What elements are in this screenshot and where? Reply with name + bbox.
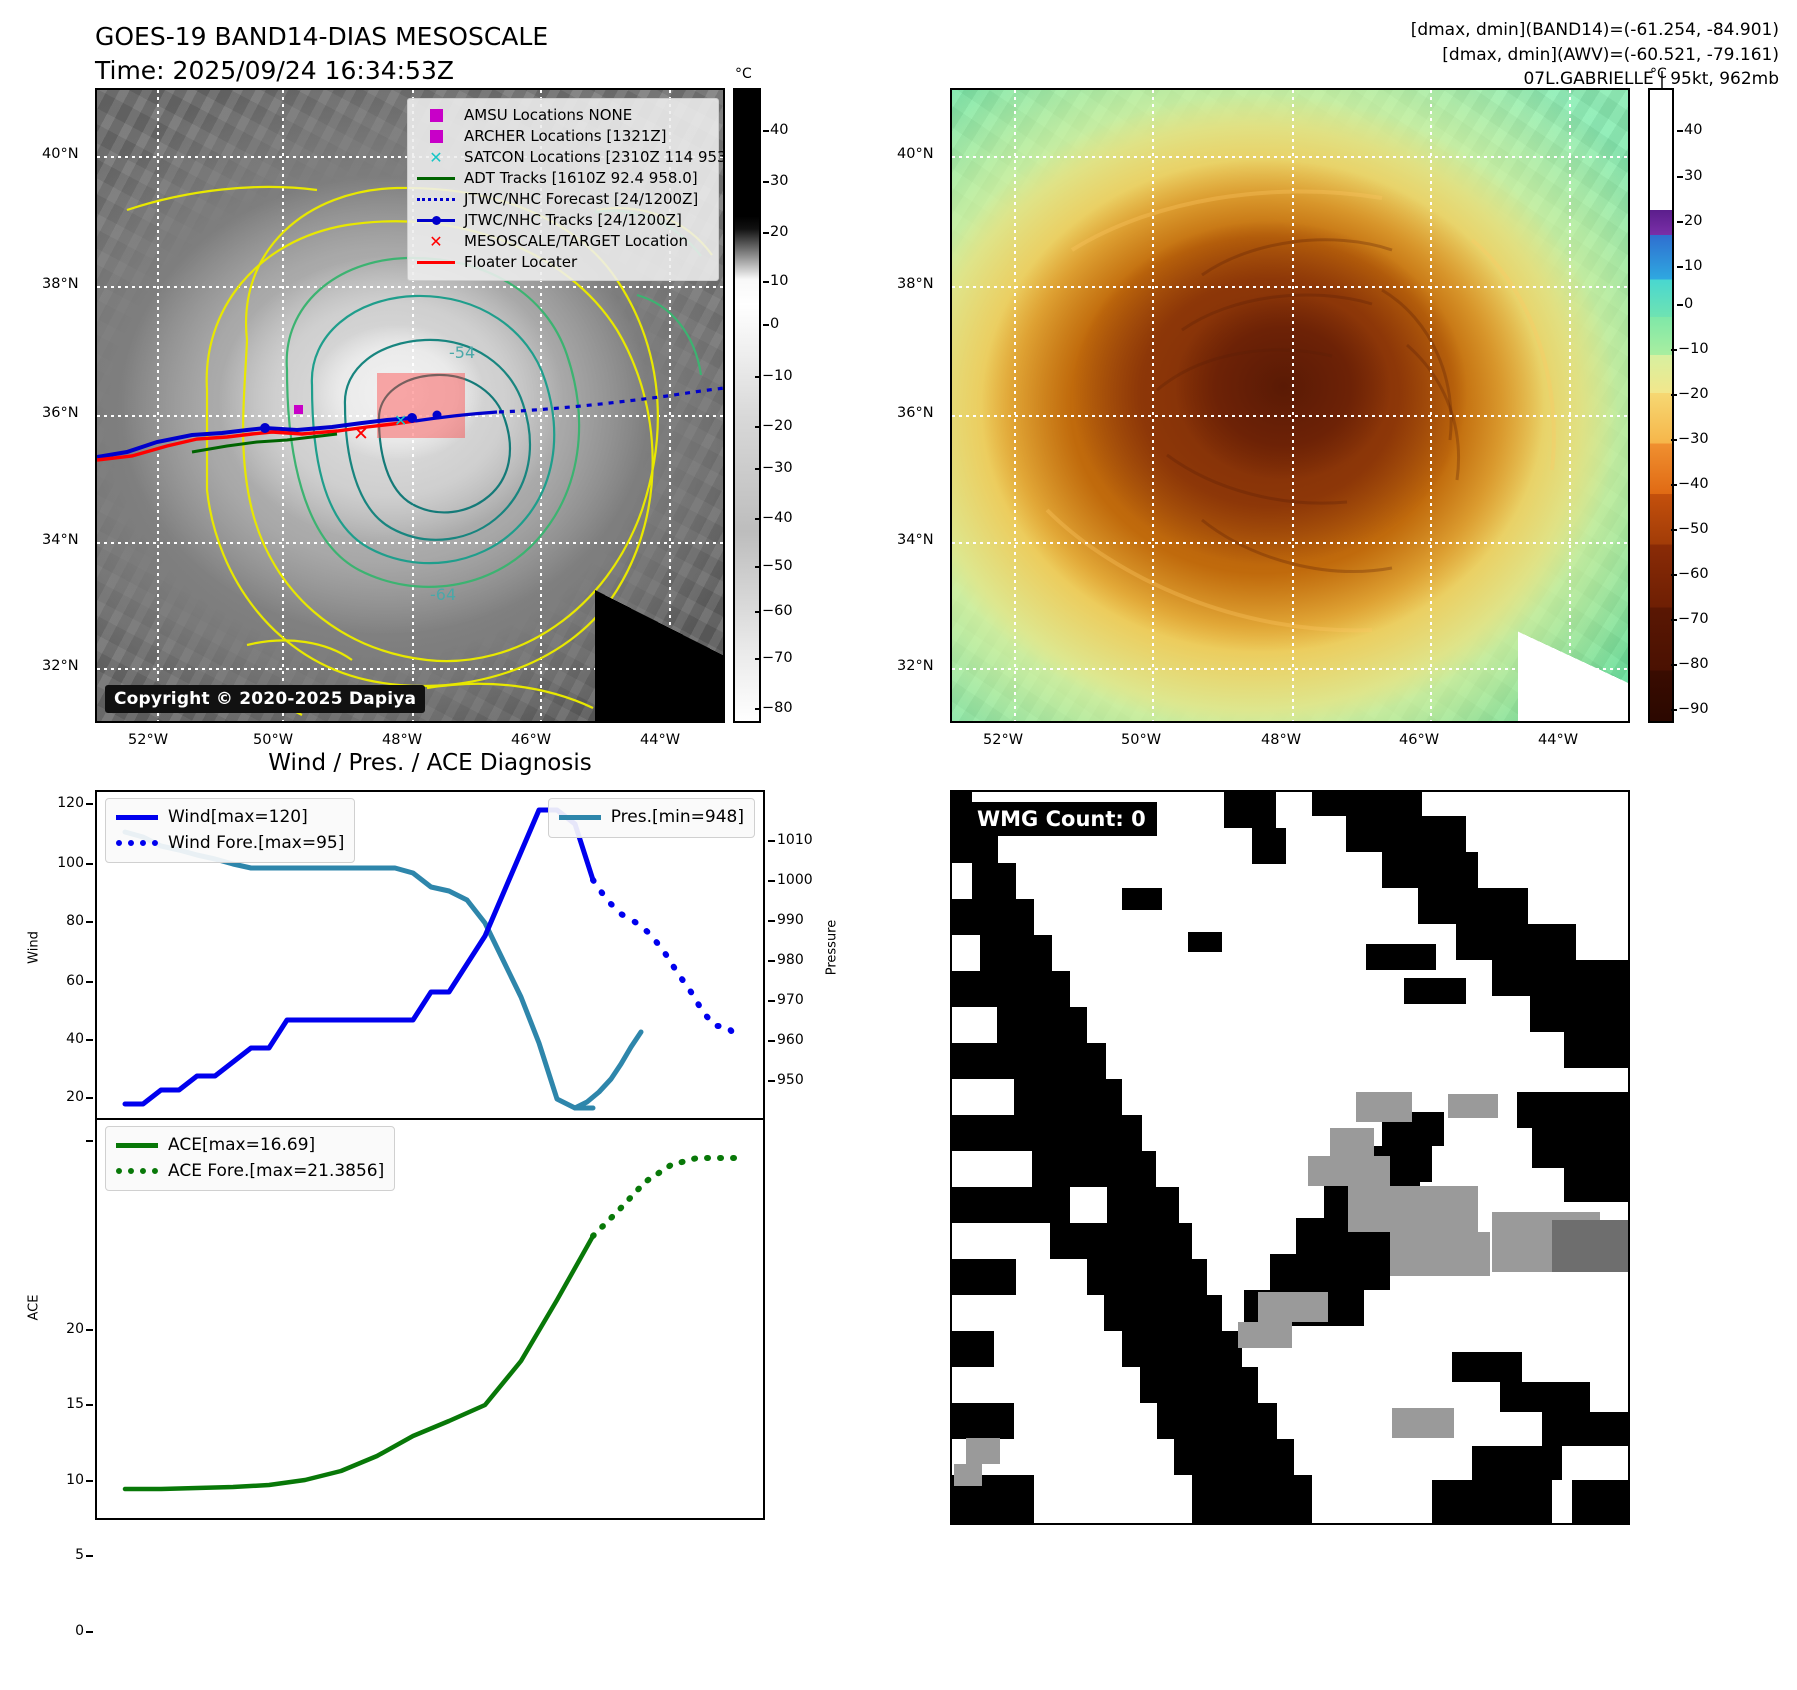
awv-colorbar-unit: °C [1650, 66, 1667, 82]
grid-line-lat-38n [952, 286, 1628, 288]
legend-label: Pres.[min=948] [611, 805, 744, 831]
legend-label: JTWC/NHC Tracks [24/1200Z] [464, 211, 682, 231]
legend-label: ACE Fore.[max=21.3856] [168, 1159, 384, 1185]
legend-item-mesoscale-target: ✕ MESOSCALE/TARGET Location [416, 231, 710, 252]
legend-label: JTWC/NHC Forecast [24/1200Z] [464, 190, 698, 210]
awv-cb-tick-20: 20 [1684, 213, 1702, 229]
awv-cb-tick-m40: −40 [1678, 476, 1709, 492]
legend-label: SATCON Locations [2310Z 114 953] [464, 148, 725, 168]
awv-cb-tick-m70: −70 [1678, 611, 1709, 627]
legend-item-adt-tracks: ADT Tracks [1610Z 92.4 958.0] [416, 168, 710, 189]
legend-label: MESOSCALE/TARGET Location [464, 232, 688, 252]
ace-forecast-series [593, 1158, 745, 1236]
ir-cb-tick-20: 20 [770, 224, 788, 240]
image-edge-mask [595, 543, 725, 723]
ir-cb-tick-m10: −10 [762, 368, 793, 384]
legend-label: Wind Fore.[max=95] [168, 831, 344, 857]
awv-cb-tick-10: 10 [1684, 258, 1702, 274]
pressure-axis-label: Pressure [825, 898, 840, 998]
square-marker-icon [416, 130, 456, 144]
ace-series [125, 1236, 593, 1489]
legend-item-pressure: Pres.[min=948] [559, 805, 744, 831]
dotted-line-icon [416, 193, 456, 207]
grid-line-lat-36n [952, 415, 1628, 417]
wind-tick-80: 80 [38, 913, 84, 929]
wind-chart-legend: Wind[max=120] Wind Fore.[max=95] [105, 798, 355, 863]
pressure-tick-960: 960 [777, 1032, 804, 1048]
awv-lat-tick-40n: 40°N [897, 146, 934, 162]
lat-tick-34n: 34°N [42, 532, 79, 548]
awv-lon-tick-52w: 52°W [983, 732, 1023, 748]
wmg-mask-image [952, 792, 1628, 1523]
ir-cb-tick-m50: −50 [762, 558, 793, 574]
pressure-chart-legend: Pres.[min=948] [548, 798, 755, 838]
awv-cb-tick-m20: −20 [1678, 386, 1709, 402]
ir-cb-tick-m80: −80 [762, 700, 793, 716]
pressure-tick-1010: 1010 [777, 832, 813, 848]
ir-cb-tick-m70: −70 [762, 650, 793, 666]
ir-colorbar-unit: °C [735, 66, 752, 82]
ir-cb-tick-m30: −30 [762, 460, 793, 476]
ir-cb-tick-40: 40 [770, 122, 788, 138]
ace-tick-5: 5 [38, 1547, 84, 1563]
pressure-tick-990: 990 [777, 912, 804, 928]
grid-line-lat-40n [952, 156, 1628, 158]
ace-tick-20: 20 [38, 1321, 84, 1337]
image-edge-mask [1518, 586, 1628, 721]
lat-tick-36n: 36°N [42, 405, 79, 421]
legend-label: AMSU Locations NONE [464, 106, 632, 126]
pressure-tick-970: 970 [777, 992, 804, 1008]
awv-extremes: [dmax, dmin](AWV)=(-60.521, -79.161) [1179, 43, 1779, 68]
dotted-line-icon [116, 1168, 158, 1174]
legend-label: Wind[max=120] [168, 805, 308, 831]
ir-satellite-panel[interactable]: -54 -64 ✕ ✕ AMSU Locations NONE ARCHER L… [95, 88, 725, 723]
awv-cb-tick-40: 40 [1684, 122, 1702, 138]
legend-item-jtwc-tracks: JTWC/NHC Tracks [24/1200Z] [416, 210, 710, 231]
awv-satellite-panel[interactable] [950, 88, 1630, 723]
awv-cb-tick-m30: −30 [1678, 431, 1709, 447]
awv-cb-tick-m10: −10 [1678, 341, 1709, 357]
awv-lon-tick-48w: 48°W [1261, 732, 1301, 748]
legend-item-ace: ACE[max=16.69] [116, 1133, 384, 1159]
ir-cb-tick-0: 0 [770, 316, 779, 332]
svg-text:✕: ✕ [394, 411, 407, 430]
grid-line-lon-52w [1014, 90, 1016, 721]
awv-cb-tick-m90: −90 [1678, 701, 1709, 717]
awv-lat-tick-34n: 34°N [897, 532, 934, 548]
diagnostics-header: [dmax, dmin](BAND14)=(-61.254, -84.901) … [1179, 18, 1779, 92]
legend-item-floater-locater: Floater Locater [416, 252, 710, 273]
legend-item-amsu: AMSU Locations NONE [416, 105, 710, 126]
awv-cb-tick-m80: −80 [1678, 656, 1709, 672]
copyright-badge: Copyright © 2020-2025 Dapiya [105, 685, 425, 713]
legend-label: ACE[max=16.69] [168, 1133, 315, 1159]
grid-line-lat-34n [952, 542, 1628, 544]
awv-cb-tick-30: 30 [1684, 168, 1702, 184]
x-marker-icon: ✕ [416, 151, 456, 165]
grid-line-lon-46w [1430, 90, 1432, 721]
pressure-tick-980: 980 [777, 952, 804, 968]
band14-extremes: [dmax, dmin](BAND14)=(-61.254, -84.901) [1179, 18, 1779, 43]
awv-lat-tick-32n: 32°N [897, 658, 934, 674]
wind-tick-60: 60 [38, 973, 84, 989]
wind-tick-40: 40 [38, 1031, 84, 1047]
svg-text:✕: ✕ [353, 423, 369, 445]
product-time: Time: 2025/09/24 16:34:53Z [95, 54, 795, 88]
pressure-tick-950: 950 [777, 1072, 804, 1088]
legend-item-jtwc-forecast: JTWC/NHC Forecast [24/1200Z] [416, 189, 710, 210]
grid-line-lon-48w [1292, 90, 1294, 721]
wind-tick-20: 20 [38, 1089, 84, 1105]
wind-tick-100: 100 [38, 855, 84, 871]
lon-tick-50w: 50°W [253, 732, 293, 748]
dotted-line-icon [116, 840, 158, 846]
lat-tick-38n: 38°N [42, 276, 79, 292]
awv-lat-tick-36n: 36°N [897, 405, 934, 421]
lon-tick-52w: 52°W [128, 732, 168, 748]
awv-lon-tick-46w: 46°W [1399, 732, 1439, 748]
awv-colorbar[interactable] [1648, 88, 1674, 723]
pressure-tick-1000: 1000 [777, 872, 813, 888]
square-marker-icon [416, 109, 456, 123]
ace-tick-0: 0 [38, 1623, 84, 1639]
legend-item-satcon: ✕ SATCON Locations [2310Z 114 953] [416, 147, 710, 168]
legend-item-wind-forecast: Wind Fore.[max=95] [116, 831, 344, 857]
legend-label: ARCHER Locations [1321Z] [464, 127, 667, 147]
grid-line-lon-50w [1152, 90, 1154, 721]
awv-lat-tick-38n: 38°N [897, 276, 934, 292]
line-marker-icon [416, 172, 456, 186]
awv-lon-tick-44w: 44°W [1538, 732, 1578, 748]
legend-label: Floater Locater [464, 253, 577, 273]
awv-cb-tick-0: 0 [1684, 296, 1693, 312]
product-title: GOES-19 BAND14-DIAS MESOSCALE [95, 20, 795, 54]
legend-item-wind: Wind[max=120] [116, 805, 344, 831]
lon-tick-46w: 46°W [511, 732, 551, 748]
lon-tick-44w: 44°W [640, 732, 680, 748]
wind-pressure-chart[interactable]: Wind[max=120] Wind Fore.[max=95] Pres.[m… [95, 790, 765, 1120]
solid-line-icon [559, 815, 601, 820]
awv-lon-tick-50w: 50°W [1121, 732, 1161, 748]
legend-item-ace-forecast: ACE Fore.[max=21.3856] [116, 1159, 384, 1185]
lat-tick-32n: 32°N [42, 658, 79, 674]
ace-chart[interactable]: ACE[max=16.69] ACE Fore.[max=21.3856] [95, 1120, 765, 1520]
solid-line-icon [116, 1143, 158, 1148]
ace-chart-legend: ACE[max=16.69] ACE Fore.[max=21.3856] [105, 1126, 395, 1191]
ir-cb-tick-m20: −20 [762, 418, 793, 434]
legend-label: ADT Tracks [1610Z 92.4 958.0] [464, 169, 698, 189]
lon-tick-48w: 48°W [382, 732, 422, 748]
pressure-series-tail [575, 1032, 641, 1108]
line-marker-icon [416, 256, 456, 270]
ir-colorbar[interactable] [733, 88, 761, 723]
wmg-count-badge: WMG Count: 0 [966, 802, 1157, 836]
ace-tick-10: 10 [38, 1472, 84, 1488]
diagnosis-chart-title: Wind / Pres. / ACE Diagnosis [95, 750, 765, 776]
wind-tick-120: 120 [38, 795, 84, 811]
line-with-dot-icon [416, 214, 456, 228]
ir-cb-tick-10: 10 [770, 273, 788, 289]
legend-item-archer: ARCHER Locations [1321Z] [416, 126, 710, 147]
lat-tick-40n: 40°N [42, 146, 79, 162]
ir-panel-legend: AMSU Locations NONE ARCHER Locations [13… [407, 98, 719, 281]
wmg-mask-panel[interactable]: WMG Count: 0 [950, 790, 1630, 1525]
ir-cb-tick-m60: −60 [762, 603, 793, 619]
page-title: GOES-19 BAND14-DIAS MESOSCALE Time: 2025… [95, 20, 795, 88]
ace-tick-15: 15 [38, 1396, 84, 1412]
ir-cb-tick-m40: −40 [762, 510, 793, 526]
pressure-series [125, 832, 593, 1108]
awv-cb-tick-m60: −60 [1678, 566, 1709, 582]
ir-cb-tick-30: 30 [770, 173, 788, 189]
awv-cb-tick-m50: −50 [1678, 521, 1709, 537]
solid-line-icon [116, 815, 158, 820]
wind-forecast-series [593, 880, 739, 1040]
x-marker-icon: ✕ [416, 235, 456, 249]
